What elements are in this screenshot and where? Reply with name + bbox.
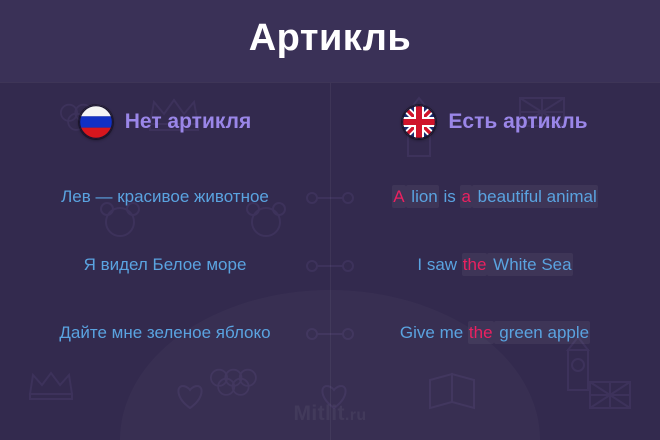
- sentence-text: A lion is a beautiful animal: [392, 186, 598, 208]
- russian-flag-icon: [79, 105, 113, 139]
- article-word: a: [460, 185, 471, 208]
- sentence-row: Дайте мне зеленое яблоко: [0, 299, 330, 367]
- column-header-has-article: Есть артикль: [402, 99, 587, 145]
- article-word: the: [462, 253, 488, 276]
- sentence-text: Give me the green apple: [400, 322, 590, 344]
- sentence-segment: Give me: [400, 323, 468, 342]
- sentence-segment: White Sea: [487, 253, 572, 276]
- column-header-no-article: Нет артикля: [79, 99, 251, 145]
- sentence-text: Я видел Белое море: [84, 254, 247, 276]
- sentence-segment: beautiful animal: [472, 185, 598, 208]
- page-title: Артикль: [0, 12, 660, 64]
- sentence-segment: lion: [406, 185, 439, 208]
- sentence-text: I saw the White Sea: [417, 254, 572, 276]
- sentence-rows-no-article: Лев — красивое животное Я видел Белое мо…: [0, 163, 330, 367]
- sentence-segment: I saw: [417, 255, 461, 274]
- sentence-text: Лев — красивое животное: [61, 186, 269, 208]
- sentence-text: Дайте мне зеленое яблоко: [59, 322, 270, 344]
- article-word: the: [468, 321, 494, 344]
- sentence-rows-has-article: A lion is a beautiful animal I saw the W…: [330, 163, 660, 367]
- sentence-row: Give me the green apple: [330, 299, 660, 367]
- article-word: A: [392, 185, 405, 208]
- sentence-row: Лев — красивое животное: [0, 163, 330, 231]
- sentence-row: I saw the White Sea: [330, 231, 660, 299]
- sentence-segment: green apple: [494, 321, 591, 344]
- column-has-article: Есть артикль A lion is a beautiful anima…: [330, 82, 660, 440]
- column-heading-label: Нет артикля: [125, 110, 251, 134]
- uk-flag-icon: [402, 105, 436, 139]
- column-no-article: Нет артикля Лев — красивое животное Я ви…: [0, 82, 330, 440]
- sentence-segment: is: [439, 187, 461, 206]
- sentence-segment: Дайте мне зеленое яблоко: [59, 323, 270, 342]
- comparison-columns: Нет артикля Лев — красивое животное Я ви…: [0, 82, 660, 440]
- header-bar: Артикль: [0, 0, 660, 82]
- sentence-row: Я видел Белое море: [0, 231, 330, 299]
- infographic-card: Артикль Нет артикля: [0, 0, 660, 440]
- sentence-segment: Лев — красивое животное: [61, 187, 269, 206]
- sentence-row: A lion is a beautiful animal: [330, 163, 660, 231]
- column-heading-label: Есть артикль: [448, 110, 587, 134]
- sentence-segment: Я видел Белое море: [84, 255, 247, 274]
